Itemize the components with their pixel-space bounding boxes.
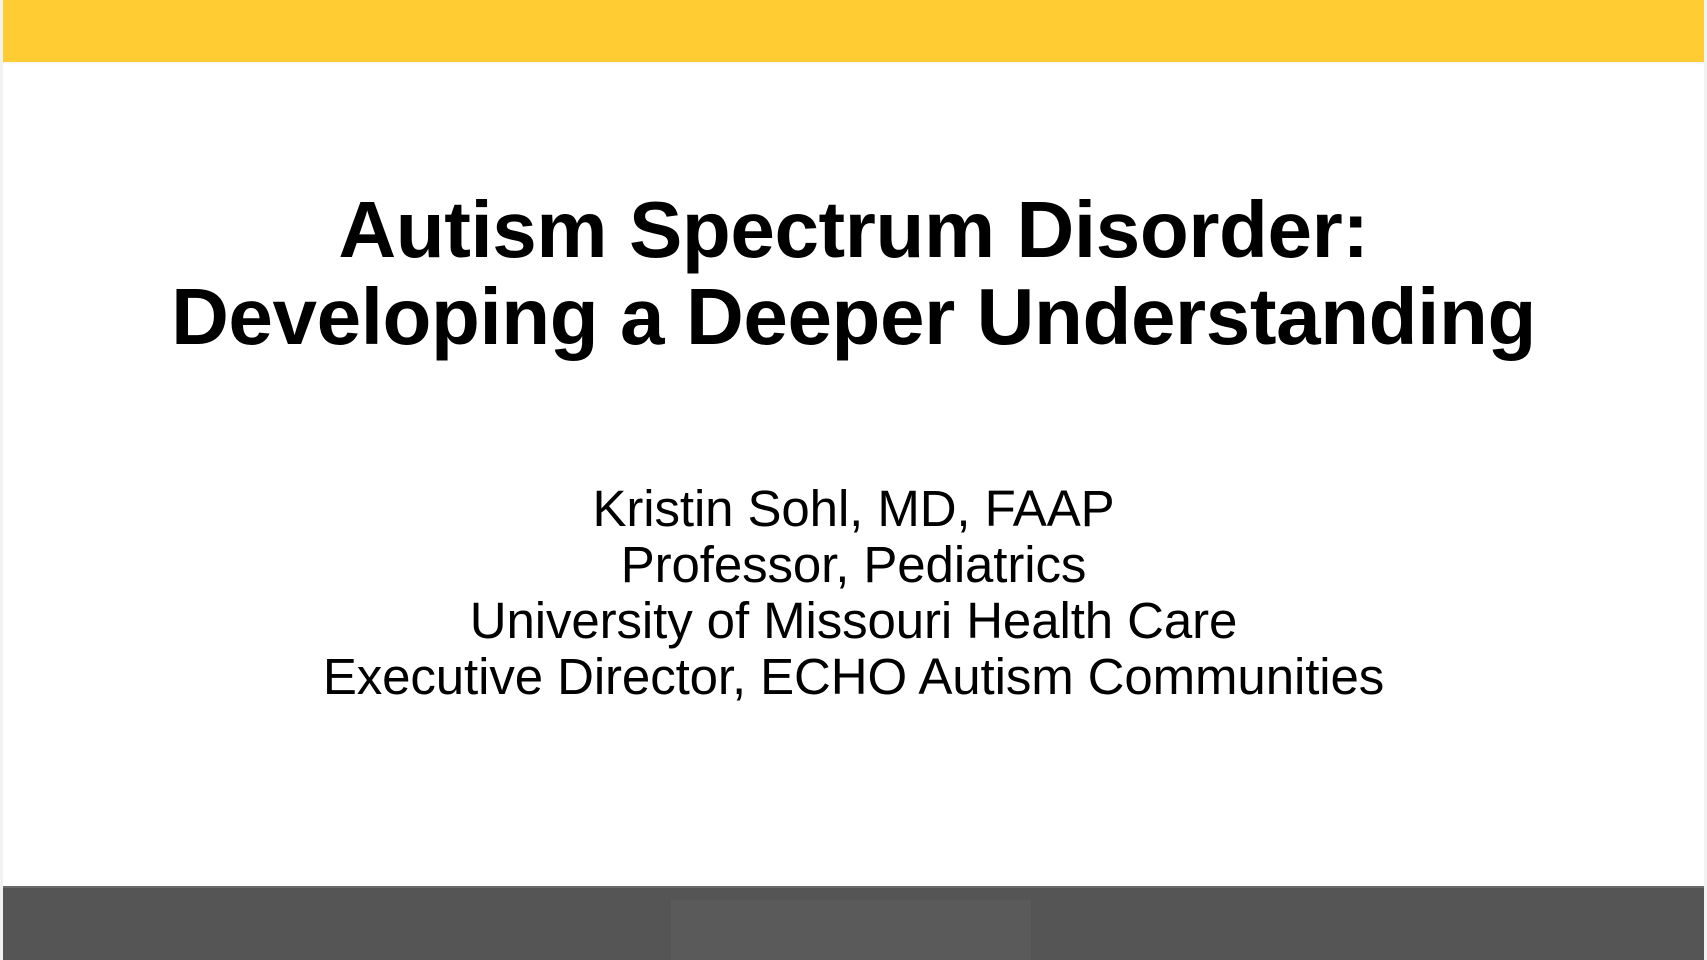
title-slide: Autism Spectrum Disorder: Developing a D… <box>0 0 1707 960</box>
slide-title: Autism Spectrum Disorder: Developing a D… <box>3 186 1704 360</box>
subtitle-line-presenter-role: Professor, Pediatrics <box>43 537 1664 593</box>
bottom-footer-bar <box>3 886 1704 960</box>
subtitle-line-presenter-name: Kristin Sohl, MD, FAAP <box>43 481 1664 537</box>
title-line-1: Autism Spectrum Disorder: <box>43 186 1664 273</box>
subtitle-line-program-role: Executive Director, ECHO Autism Communit… <box>43 649 1664 705</box>
top-accent-bar <box>3 0 1704 62</box>
top-accent-bar-shadow <box>3 62 1704 65</box>
slide-subtitle: Kristin Sohl, MD, FAAP Professor, Pediat… <box>3 481 1704 705</box>
footer-center-plate <box>671 900 1031 960</box>
subtitle-line-institution: University of Missouri Health Care <box>43 593 1664 649</box>
title-line-2: Developing a Deeper Understanding <box>43 273 1664 360</box>
footer-bar-top-edge <box>3 886 1704 888</box>
